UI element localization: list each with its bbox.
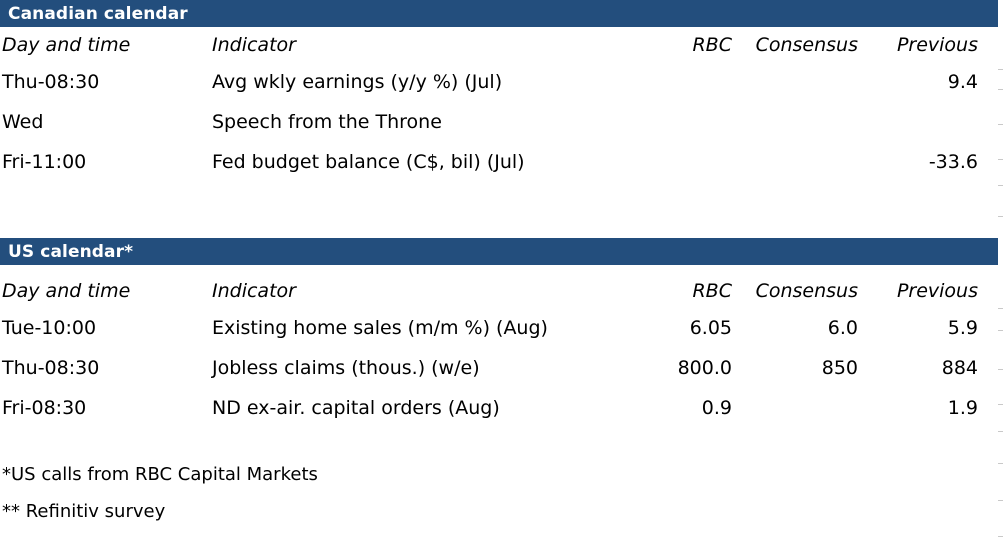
column-header-indicator: Indicator (207, 274, 634, 308)
section-title-us: US calendar* (8, 242, 133, 262)
cell-day: Tue-10:00 (0, 308, 207, 348)
cell-indicator: Fed budget balance (C$, bil) (Jul) (207, 142, 634, 182)
cell-previous: 884 (878, 348, 998, 388)
us-calendar-table: Day and time Indicator RBC Consensus Pre… (0, 274, 998, 428)
cell-consensus (752, 62, 878, 102)
cell-previous: 1.9 (878, 388, 998, 428)
table-row: Thu-08:30 Avg wkly earnings (y/y %) (Jul… (0, 62, 998, 102)
column-header-rbc: RBC (634, 28, 752, 62)
cell-consensus: 6.0 (752, 308, 878, 348)
cell-previous: 5.9 (878, 308, 998, 348)
cell-previous: -33.6 (878, 142, 998, 182)
cell-rbc: 6.05 (634, 308, 752, 348)
column-header-rbc: RBC (634, 274, 752, 308)
cell-previous (878, 102, 998, 142)
cell-day: Wed (0, 102, 207, 142)
section-header-us-calendar: US calendar* (0, 238, 998, 265)
cell-indicator: Avg wkly earnings (y/y %) (Jul) (207, 62, 634, 102)
column-header-day: Day and time (0, 274, 207, 308)
cell-indicator: ND ex-air. capital orders (Aug) (207, 388, 634, 428)
column-header-consensus: Consensus (752, 274, 878, 308)
section-header-canadian-calendar: Canadian calendar (0, 0, 998, 27)
column-header-previous: Previous (878, 274, 998, 308)
section-title-canadian: Canadian calendar (8, 4, 188, 24)
table-row: Tue-10:00 Existing home sales (m/m %) (A… (0, 308, 998, 348)
table-row: Thu-08:30 Jobless claims (thous.) (w/e) … (0, 348, 998, 388)
cell-rbc: 0.9 (634, 388, 752, 428)
cell-previous: 9.4 (878, 62, 998, 102)
cell-consensus (752, 142, 878, 182)
column-header-consensus: Consensus (752, 28, 878, 62)
cell-day: Thu-08:30 (0, 348, 207, 388)
cell-day: Fri-08:30 (0, 388, 207, 428)
footnote-us-calls: *US calls from RBC Capital Markets (2, 464, 318, 485)
cell-indicator: Jobless claims (thous.) (w/e) (207, 348, 634, 388)
cell-consensus: 850 (752, 348, 878, 388)
column-header-previous: Previous (878, 28, 998, 62)
cell-rbc: 800.0 (634, 348, 752, 388)
cell-rbc (634, 62, 752, 102)
cell-consensus (752, 388, 878, 428)
table-row: Fri-11:00 Fed budget balance (C$, bil) (… (0, 142, 998, 182)
cell-rbc (634, 142, 752, 182)
cell-indicator: Existing home sales (m/m %) (Aug) (207, 308, 634, 348)
cell-day: Fri-11:00 (0, 142, 207, 182)
canadian-calendar-table: Day and time Indicator RBC Consensus Pre… (0, 28, 998, 182)
cell-consensus (752, 102, 878, 142)
column-header-indicator: Indicator (207, 28, 634, 62)
cell-indicator: Speech from the Throne (207, 102, 634, 142)
table-header-row: Day and time Indicator RBC Consensus Pre… (0, 28, 998, 62)
cell-day: Thu-08:30 (0, 62, 207, 102)
calendar-page: Canadian calendar Day and time Indicator… (0, 0, 1003, 550)
footnote-refinitiv-survey: ** Refinitiv survey (2, 501, 165, 522)
table-row: Wed Speech from the Throne (0, 102, 998, 142)
column-header-day: Day and time (0, 28, 207, 62)
table-header-row: Day and time Indicator RBC Consensus Pre… (0, 274, 998, 308)
grid-edge-ticks (998, 0, 1003, 550)
cell-rbc (634, 102, 752, 142)
table-row: Fri-08:30 ND ex-air. capital orders (Aug… (0, 388, 998, 428)
